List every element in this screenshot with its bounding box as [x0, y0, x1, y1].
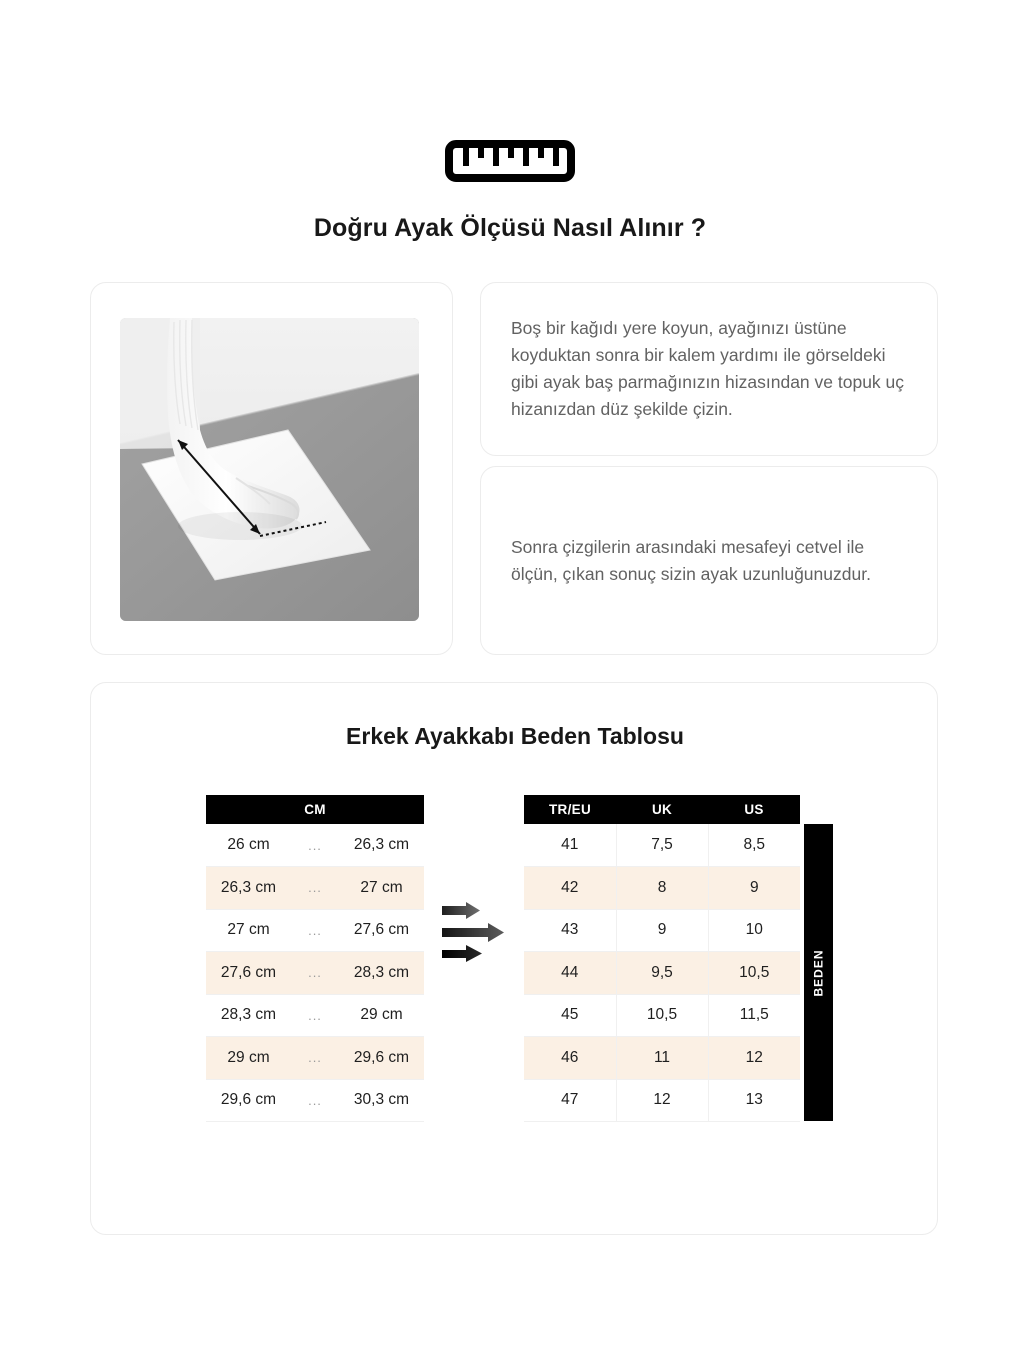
us-cell: 10,5 — [708, 952, 800, 995]
us-cell: 11,5 — [708, 994, 800, 1037]
us-cell: 12 — [708, 1037, 800, 1080]
us-cell: 13 — [708, 1079, 800, 1122]
cm-from-cell: 26 cm — [206, 824, 291, 867]
uk-cell: 12 — [616, 1079, 708, 1122]
cm-table-body: 26 cm ... 26,3 cm 26,3 cm ... 27 cm 27 c… — [206, 824, 424, 1122]
table-row: 41 7,5 8,5 — [524, 824, 800, 867]
cm-ellipsis-cell: ... — [291, 909, 339, 952]
size-tables-row: CM 26 cm ... 26,3 cm 26,3 cm ... 27 cm — [91, 795, 939, 1122]
uk-cell: 9 — [616, 909, 708, 952]
beden-label-text: BEDEN — [812, 949, 826, 996]
cm-to-cell: 29 cm — [339, 994, 424, 1037]
cm-from-cell: 27,6 cm — [206, 952, 291, 995]
instruction-text-1: Boş bir kağıdı yere koyun, ayağınızı üst… — [481, 315, 937, 422]
table-row: 43 9 10 — [524, 909, 800, 952]
us-cell: 9 — [708, 867, 800, 910]
size-conversion-block: TR/EU UK US 41 7,5 8,5 — [524, 795, 800, 1122]
size-table-card: Erkek Ayakkabı Beden Tablosu CM 26 cm ..… — [90, 682, 938, 1235]
cm-table-wrapper: CM 26 cm ... 26,3 cm 26,3 cm ... 27 cm — [206, 795, 424, 1122]
cm-ellipsis-cell: ... — [291, 952, 339, 995]
table-row: 29,6 cm ... 30,3 cm — [206, 1079, 424, 1122]
page-title: Doğru Ayak Ölçüsü Nasıl Alınır ? — [0, 214, 1020, 243]
cm-from-cell: 29,6 cm — [206, 1079, 291, 1122]
size-table-title: Erkek Ayakkabı Beden Tablosu — [91, 723, 939, 750]
cm-to-cell: 27,6 cm — [339, 909, 424, 952]
table-row: 29 cm ... 29,6 cm — [206, 1037, 424, 1080]
uk-cell: 9,5 — [616, 952, 708, 995]
ruler-icon — [445, 140, 575, 182]
size-table-header-row: TR/EU UK US — [524, 795, 800, 824]
instruction-card-2: Sonra çizgilerin arasındaki mesafeyi cet… — [480, 466, 938, 655]
cm-to-cell: 30,3 cm — [339, 1079, 424, 1122]
table-row: 26 cm ... 26,3 cm — [206, 824, 424, 867]
cm-header-cell: CM — [206, 795, 424, 824]
us-cell: 8,5 — [708, 824, 800, 867]
tr-eu-cell: 42 — [524, 867, 616, 910]
cm-to-cell: 29,6 cm — [339, 1037, 424, 1080]
table-row: 42 8 9 — [524, 867, 800, 910]
arrow-right-icon — [442, 945, 482, 962]
arrow-right-icon — [442, 902, 480, 919]
cm-ellipsis-cell: ... — [291, 994, 339, 1037]
cm-from-cell: 28,3 cm — [206, 994, 291, 1037]
cm-ellipsis-cell: ... — [291, 824, 339, 867]
beden-side-label: BEDEN — [804, 824, 833, 1121]
tr-eu-cell: 46 — [524, 1037, 616, 1080]
uk-cell: 11 — [616, 1037, 708, 1080]
cm-ellipsis-cell: ... — [291, 1037, 339, 1080]
us-cell: 10 — [708, 909, 800, 952]
tr-eu-cell: 41 — [524, 824, 616, 867]
tr-eu-cell: 44 — [524, 952, 616, 995]
tr-eu-cell: 43 — [524, 909, 616, 952]
table-row: 46 11 12 — [524, 1037, 800, 1080]
size-table-body: 41 7,5 8,5 42 8 9 43 9 — [524, 824, 800, 1122]
size-table-wrapper: TR/EU UK US 41 7,5 8,5 — [524, 795, 800, 1122]
size-guide-page: Doğru Ayak Ölçüsü Nasıl Alınır ? — [0, 0, 1020, 1360]
arrow-right-icon — [442, 923, 504, 942]
table-row: 27 cm ... 27,6 cm — [206, 909, 424, 952]
table-row: 45 10,5 11,5 — [524, 994, 800, 1037]
uk-cell: 10,5 — [616, 994, 708, 1037]
size-conversion-table: TR/EU UK US 41 7,5 8,5 — [524, 795, 800, 1122]
table-row: 26,3 cm ... 27 cm — [206, 867, 424, 910]
measurement-photo-card — [90, 282, 453, 655]
cm-table-header-row: CM — [206, 795, 424, 824]
foot-measurement-photo — [120, 318, 419, 621]
cm-from-cell: 29 cm — [206, 1037, 291, 1080]
cm-to-cell: 27 cm — [339, 867, 424, 910]
ruler-icon-container — [0, 140, 1020, 182]
table-row: 28,3 cm ... 29 cm — [206, 994, 424, 1037]
header-tr-eu: TR/EU — [524, 795, 616, 824]
uk-cell: 8 — [616, 867, 708, 910]
cm-from-cell: 27 cm — [206, 909, 291, 952]
table-row: 47 12 13 — [524, 1079, 800, 1122]
instruction-text-2: Sonra çizgilerin arasındaki mesafeyi cet… — [481, 534, 937, 588]
cm-to-cell: 26,3 cm — [339, 824, 424, 867]
table-row: 44 9,5 10,5 — [524, 952, 800, 995]
cm-from-cell: 26,3 cm — [206, 867, 291, 910]
table-row: 27,6 cm ... 28,3 cm — [206, 952, 424, 995]
cm-to-cell: 28,3 cm — [339, 952, 424, 995]
header-uk: UK — [616, 795, 708, 824]
cm-table: CM 26 cm ... 26,3 cm 26,3 cm ... 27 cm — [206, 795, 424, 1122]
tr-eu-cell: 45 — [524, 994, 616, 1037]
header-us: US — [708, 795, 800, 824]
tr-eu-cell: 47 — [524, 1079, 616, 1122]
cm-ellipsis-cell: ... — [291, 867, 339, 910]
conversion-arrows — [424, 795, 524, 964]
cm-ellipsis-cell: ... — [291, 1079, 339, 1122]
instruction-card-1: Boş bir kağıdı yere koyun, ayağınızı üst… — [480, 282, 938, 456]
uk-cell: 7,5 — [616, 824, 708, 867]
